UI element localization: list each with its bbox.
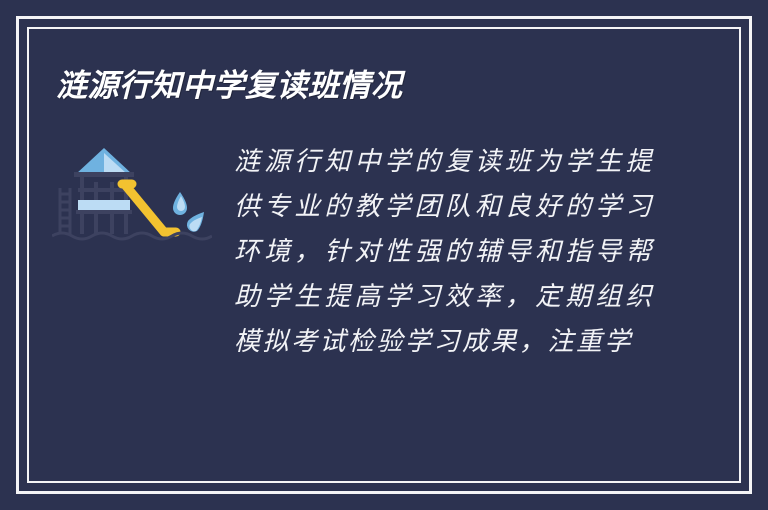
content-row: 涟源行知中学的复读班为学生提供专业的教学团队和良好的学习环境，针对性强的辅导和指… bbox=[52, 140, 722, 365]
page-title: 涟源行知中学复读班情况 bbox=[56, 66, 403, 106]
article-paragraph: 涟源行知中学的复读班为学生提供专业的教学团队和良好的学习环境，针对性强的辅导和指… bbox=[212, 140, 654, 365]
poster-canvas: 涟源行知中学复读班情况 bbox=[0, 0, 768, 510]
playground-water-slide-icon bbox=[52, 144, 212, 248]
